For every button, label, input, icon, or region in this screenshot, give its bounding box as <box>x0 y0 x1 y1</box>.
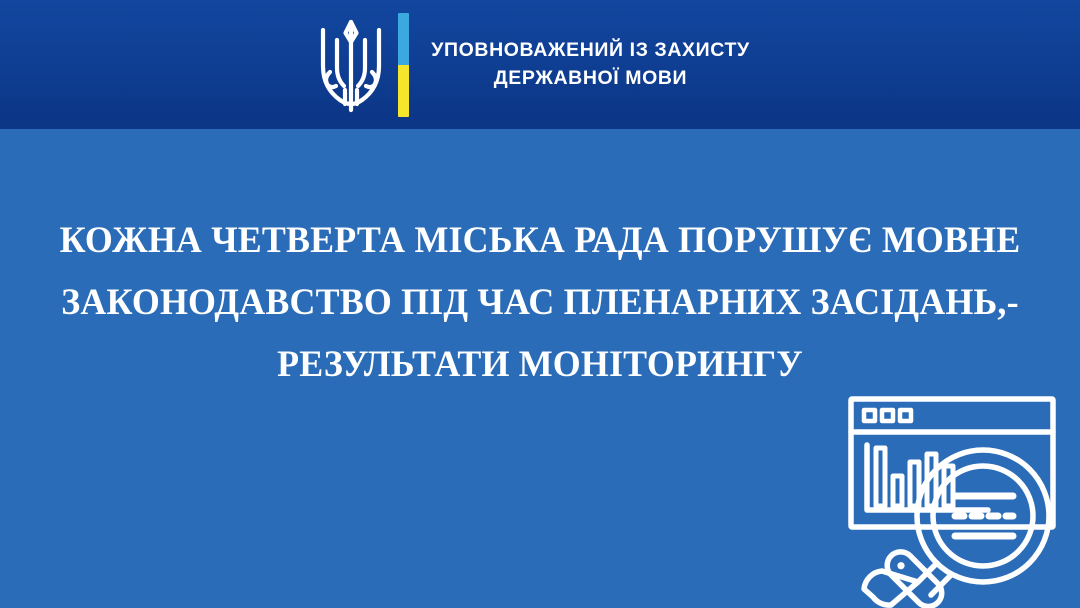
organisation-name: УПОВНОВАЖЕНИЙ ІЗ ЗАХИСТУ ДЕРЖАВНОЇ МОВИ <box>431 37 749 92</box>
headline-line-2: ЗАКОНОДАВСТВО ПІД ЧАС ПЛЕНАРНИХ ЗАСІДАНЬ… <box>16 272 1064 334</box>
headline-line-1: КОЖНА ЧЕТВЕРТА МІСЬКА РАДА ПОРУШУЄ МОВНЕ <box>16 210 1064 272</box>
header-band: УПОВНОВАЖЕНИЙ ІЗ ЗАХИСТУ ДЕРЖАВНОЇ МОВИ <box>0 0 1080 129</box>
headline-block: КОЖНА ЧЕТВЕРТА МІСЬКА РАДА ПОРУШУЄ МОВНЕ… <box>0 210 1080 396</box>
window-titlebar-dots <box>864 410 911 421</box>
magnifier-handle-body <box>882 546 948 608</box>
analytics-magnifier-illustration <box>838 384 1080 608</box>
brand-lockup: УПОВНОВАЖЕНИЙ ІЗ ЗАХИСТУ ДЕРЖАВНОЇ МОВИ <box>318 13 749 117</box>
ukrainian-trident-icon <box>318 16 384 114</box>
ukraine-flag-bar <box>398 13 409 117</box>
poster-canvas: УПОВНОВАЖЕНИЙ ІЗ ЗАХИСТУ ДЕРЖАВНОЇ МОВИ … <box>0 0 1080 608</box>
organisation-name-line1: УПОВНОВАЖЕНИЙ ІЗ ЗАХИСТУ <box>431 37 749 65</box>
organisation-name-line2: ДЕРЖАВНОЇ МОВИ <box>494 65 687 93</box>
bar-chart <box>876 448 953 506</box>
